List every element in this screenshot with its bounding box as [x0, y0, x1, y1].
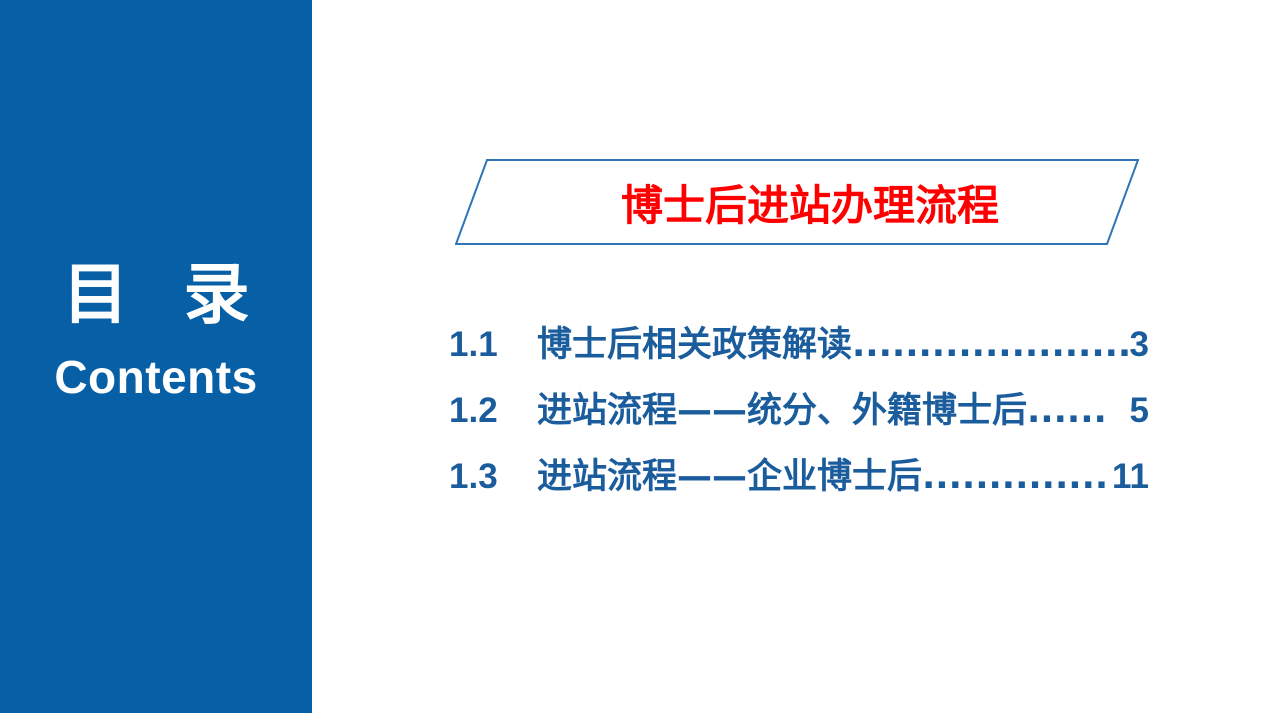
toc-entry-page: 3 — [1130, 325, 1149, 365]
toc-entry-leader: ........................ — [852, 325, 1130, 365]
toc-entry-page: 11 — [1112, 457, 1149, 497]
toc-entry-label: 博士后相关政策解读 — [537, 316, 852, 367]
content-area: 博士后进站办理流程 1.1 博士后相关政策解读 ................… — [312, 0, 1266, 713]
toc-entry-page: 5 — [1130, 391, 1149, 431]
toc-entry-label: 进站流程——企业博士后 — [537, 448, 922, 499]
toc-entry-1[interactable]: 1.1 博士后相关政策解读 ........................ 3 — [449, 316, 1149, 382]
toc-entry-number: 1.2 — [449, 391, 537, 431]
toc-entry-number: 1.3 — [449, 457, 537, 497]
section-title-banner: 博士后进站办理流程 — [455, 159, 1139, 245]
sidebar-title-english: Contents — [0, 354, 312, 400]
toc-entry-number: 1.1 — [449, 325, 537, 365]
section-title-text: 博士后进站办理流程 — [455, 159, 1139, 245]
sidebar-panel: 目 录 Contents — [0, 0, 312, 713]
toc-entry-2[interactable]: 1.2 进站流程——统分、外籍博士后 ...... 5 — [449, 382, 1149, 448]
table-of-contents: 1.1 博士后相关政策解读 ........................ 3… — [449, 316, 1149, 514]
sidebar-title-chinese: 目 录 — [0, 262, 312, 328]
toc-entry-label: 进站流程——统分、外籍博士后 — [537, 382, 1027, 433]
toc-entry-leader: .............. — [922, 457, 1112, 497]
slide-canvas: 目 录 Contents 博士后进站办理流程 1.1 博士后相关政策解读 ...… — [0, 0, 1266, 713]
toc-entry-leader: ...... — [1027, 391, 1130, 431]
sidebar-title-group: 目 录 Contents — [0, 262, 312, 400]
toc-entry-3[interactable]: 1.3 进站流程——企业博士后 .............. 11 — [449, 448, 1149, 514]
